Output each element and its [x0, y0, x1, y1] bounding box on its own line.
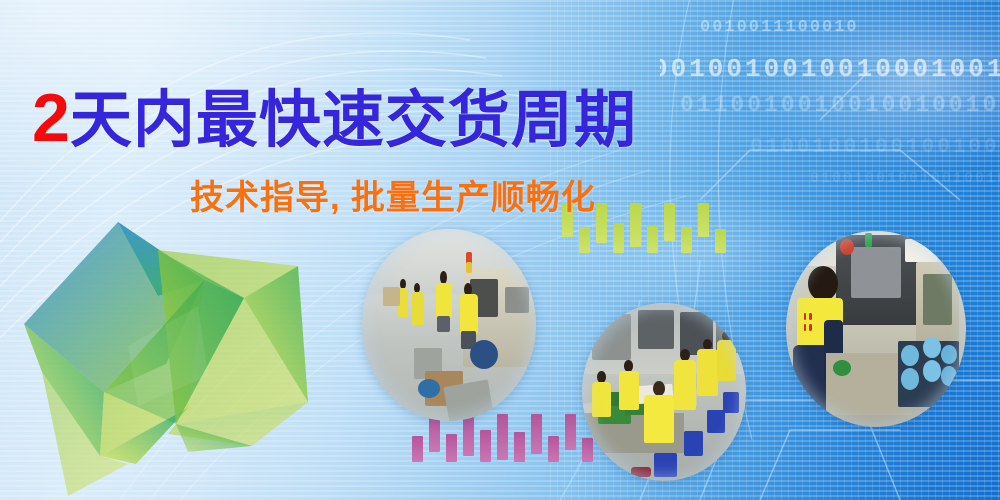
abstract-geometric-logo: [8, 196, 338, 496]
factory-photo-machine-operator: [786, 231, 966, 427]
factory-photo-assembly-line: [582, 303, 746, 481]
promo-banner: 0010011100010 0010010010010001001001 000…: [0, 0, 1000, 500]
factory-photo-smt-line: [362, 229, 536, 421]
binary-row: 01001001001001001001001001: [750, 136, 1000, 159]
page-subtitle: 技术指导, 批量生产顺畅化: [190, 170, 596, 219]
binary-code-block: 0010011100010 0010010010010001001001 000…: [660, 0, 1000, 210]
binary-row: 0010010010010001001001 00010: [660, 54, 1000, 84]
decor-bars-purple: [412, 414, 593, 462]
binary-row: 0110010010010010010010010010: [680, 92, 1000, 118]
page-title: 2天内最快速交货周期: [32, 84, 637, 152]
headline-number: 2: [32, 80, 70, 156]
photo-scene: [362, 229, 536, 421]
headline-text: 天内最快速交货周期: [70, 86, 637, 155]
binary-row: 010010010010010010: [810, 170, 1000, 187]
photo-scene: [582, 303, 746, 481]
photo-scene: [786, 231, 966, 427]
binary-row: 0010011100010: [700, 18, 859, 37]
